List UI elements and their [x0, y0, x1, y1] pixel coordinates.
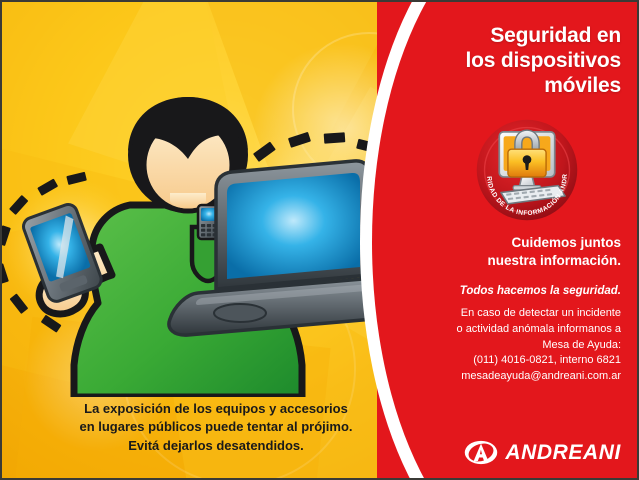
contact-line-2: o actividad anómala informanos a — [392, 322, 621, 338]
title-line-2: los dispositivos — [466, 49, 622, 72]
contact-line-1: En caso de detectar un incidente — [392, 306, 621, 322]
andreani-wordmark: ANDREANI — [505, 441, 621, 465]
slogan: Todos hacemos la seguridad. — [392, 285, 621, 297]
badge-container: SEGURIDAD DE LA INFORMACIÓN ANDREANI — [392, 110, 621, 228]
andreani-a-mark-icon — [464, 439, 498, 466]
right-content-column: Seguridad en los dispositivos móviles — [392, 2, 637, 480]
caption-block: La exposición de los equipos y accesorio… — [16, 400, 416, 455]
contact-line-3: Mesa de Ayuda: — [392, 338, 621, 354]
contact-phone: (011) 4016-0821, interno 6821 — [392, 353, 621, 369]
caption-line-1: La exposición de los equipos y accesorio… — [16, 400, 416, 418]
tagline-line-1: Cuidemos juntos — [511, 235, 621, 250]
title-line-1: Seguridad en — [490, 24, 621, 47]
poster-canvas: Seguridad en los dispositivos móviles — [0, 0, 639, 480]
title-line-3: móviles — [544, 74, 621, 97]
contact-block: En caso de detectar un incidente o activ… — [392, 306, 621, 384]
caption-line-3: Evitá dejarlos desatendidos. — [16, 437, 416, 455]
security-seal-badge: SEGURIDAD DE LA INFORMACIÓN ANDREANI — [475, 118, 579, 222]
tagline: Cuidemos juntos nuestra información. — [392, 234, 621, 269]
andreani-logo: ANDREANI — [464, 439, 621, 466]
caption-line-2: en lugares públicos puede tentar al prój… — [16, 418, 416, 436]
contact-email[interactable]: mesadeayuda@andreani.com.ar — [392, 369, 621, 385]
tagline-line-2: nuestra información. — [487, 253, 621, 268]
page-title: Seguridad en los dispositivos móviles — [392, 2, 621, 98]
